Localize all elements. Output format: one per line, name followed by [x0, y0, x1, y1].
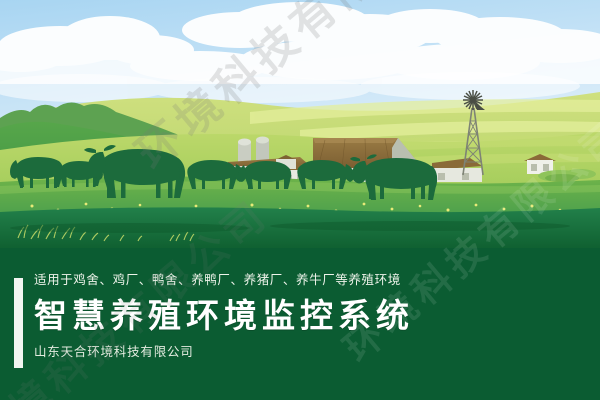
accent-bar [14, 278, 23, 368]
farm-illustration [0, 0, 600, 250]
farm-scene-svg [0, 0, 600, 250]
promotional-poster: 适用于鸡舍、鸡厂、鸭舍、养鸭厂、养猪厂、养牛厂等养殖环境 智慧养殖环境监控系统 … [0, 0, 600, 400]
tagline: 适用于鸡舍、鸡厂、鸭舍、养鸭厂、养猪厂、养牛厂等养殖环境 [34, 274, 574, 287]
banner-text-group: 适用于鸡舍、鸡厂、鸭舍、养鸭厂、养猪厂、养牛厂等养殖环境 智慧养殖环境监控系统 … [34, 274, 574, 358]
page-title: 智慧养殖环境监控系统 [34, 299, 574, 332]
company-name: 山东天合环境科技有限公司 [34, 346, 574, 359]
text-banner: 适用于鸡舍、鸡厂、鸭舍、养鸭厂、养猪厂、养牛厂等养殖环境 智慧养殖环境监控系统 … [0, 248, 600, 400]
